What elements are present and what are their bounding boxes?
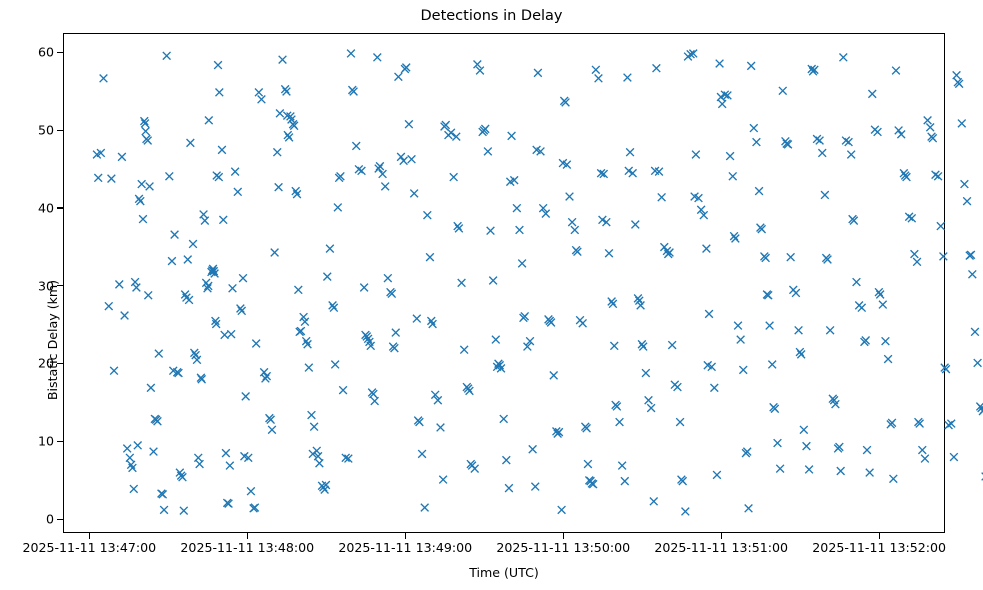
x-axis-tick-label: 2025-11-11 13:47:00 [22,541,156,555]
scatter-marker [268,426,276,434]
scatter-marker [201,217,209,225]
scatter-marker [222,449,230,457]
scatter-marker [625,167,633,175]
x-tick-datetime: 2025-11-11 13:49:00 [338,540,472,555]
scatter-marker [352,142,360,150]
scatter-marker [242,393,250,401]
scatter-marker [566,193,574,201]
scatter-marker [219,216,227,224]
scatter-marker [123,445,131,453]
scatter-marker [373,53,381,61]
scatter-marker [863,446,871,454]
scatter-marker [747,62,755,70]
scatter-marker [358,167,366,175]
scatter-marker [800,426,808,434]
scatter-marker [310,423,318,431]
scatter-marker [502,456,510,464]
scatter-marker [168,257,176,265]
scatter-marker [703,245,711,253]
x-axis-tick-mark [563,533,564,539]
scatter-marker [631,221,639,229]
scatter-marker [185,296,193,304]
scatter-marker [160,506,168,514]
scatter-marker [316,459,324,467]
scatter-marker [450,173,458,181]
scatter-marker [837,467,845,475]
scatter-marker [144,291,152,299]
x-axis-tick-mark [247,533,248,539]
scatter-marker [674,383,682,391]
scatter-marker [408,155,416,163]
scatter-marker [908,214,916,222]
scatter-marker [753,138,761,146]
scatter-marker [305,364,313,372]
scatter-marker [937,222,945,230]
scatter-marker [932,171,940,179]
x-tick-datetime: 2025-11-11 13:50:00 [496,540,630,555]
scatter-marker [418,450,426,458]
scatter-marker [165,172,173,180]
scatter-marker [258,95,266,103]
x-tick-datetime: 2025-11-11 13:47:00 [22,540,156,555]
scatter-marker [839,53,847,61]
scatter-marker [355,165,363,173]
scatter-marker [413,315,421,323]
scatter-marker [963,197,971,205]
x-axis-tick-label: 2025-11-11 13:49:00 [338,541,472,555]
scatter-marker [858,304,866,312]
scatter-marker [913,258,921,266]
scatter-marker [926,123,934,131]
scatter-marker [131,278,139,286]
page-title: Detections in Delay [0,8,983,24]
scatter-marker [866,469,874,477]
scatter-marker [508,132,516,140]
scatter-marker [437,424,445,432]
x-tick-datetime: 2025-11-11 13:51:00 [654,540,788,555]
scatter-marker [826,326,834,334]
scatter-marker [868,90,876,98]
scatter-marker [331,361,339,369]
scatter-marker [126,454,134,462]
scatter-marker [653,64,661,72]
scatter-marker [940,253,948,261]
y-axis-tick-label: 0 [46,512,54,527]
scatter-series [93,50,983,519]
x-axis-label: Time (UTC) [63,565,945,580]
scatter-marker [842,137,850,145]
scatter-marker [133,284,141,292]
x-axis-tick-label: 2025-11-11 13:52:00 [812,541,946,555]
scatter-marker [616,418,624,426]
scatter-marker [271,249,279,257]
scatter-marker [895,127,903,135]
scatter-marker [776,465,784,473]
scatter-marker [918,446,926,454]
scatter-marker [146,183,154,191]
y-axis-tick-label: 30 [38,278,54,293]
scatter-marker [971,328,979,336]
scatter-marker [803,442,811,450]
scatter-marker [705,310,713,318]
plot-area [63,33,945,533]
scatter-marker [294,286,302,294]
scatter-marker [110,367,118,375]
scatter-marker [379,170,387,178]
scatter-points [64,34,946,534]
x-axis-tick-mark [405,533,406,539]
y-axis-tick-label: 20 [38,356,54,371]
scatter-marker [924,116,932,124]
scatter-marker [381,183,389,191]
scatter-marker [624,74,632,82]
scatter-marker [889,475,897,483]
scatter-marker [953,71,961,79]
scatter-marker [108,175,116,183]
scatter-marker [792,289,800,297]
scatter-marker [513,204,521,212]
scatter-marker [100,74,108,82]
scatter-marker [439,476,447,484]
scatter-marker [218,146,226,154]
scatter-marker [421,504,429,512]
scatter-marker [205,116,213,124]
scatter-marker [734,322,742,330]
scatter-marker [347,50,355,58]
scatter-marker [874,128,882,136]
scatter-marker [755,187,763,195]
scatter-marker [339,386,347,394]
scatter-marker [405,120,413,128]
scatter-marker [134,442,142,450]
scatter-marker [276,109,284,117]
scatter-marker [718,100,726,108]
scatter-marker [968,270,976,278]
scatter-marker [392,329,400,337]
scatter-marker [958,120,966,128]
y-axis-tick-label: 40 [38,200,54,215]
scatter-marker [821,191,829,199]
scatter-marker [818,149,826,157]
scatter-marker [642,369,650,377]
scatter-marker [500,415,508,423]
scatter-marker [105,302,113,310]
scatter-marker [460,346,468,354]
scatter-marker [921,455,929,463]
scatter-marker [139,215,147,223]
scatter-marker [658,193,666,201]
scatter-marker [787,253,795,261]
scatter-marker [716,60,724,68]
scatter-marker [184,256,192,264]
scatter-marker [692,151,700,159]
scatter-marker [626,148,634,156]
scatter-marker [934,172,942,180]
x-tick-datetime: 2025-11-11 13:48:00 [180,540,314,555]
scatter-marker [571,226,579,234]
scatter-marker [945,421,953,429]
scatter-marker [610,342,618,350]
scatter-marker [142,127,150,135]
scatter-marker [138,180,146,188]
scatter-marker [911,250,919,258]
scatter-marker [397,153,405,161]
scatter-marker [621,477,629,485]
scatter-marker [226,462,234,470]
scatter-marker [947,420,955,428]
scatter-marker [187,139,195,147]
y-axis-tick-label: 10 [38,434,54,449]
scatter-marker [647,404,655,412]
scatter-marker [371,397,379,405]
y-axis-tick-label: 60 [38,45,54,60]
scatter-marker [247,487,255,495]
scatter-marker [676,418,684,426]
scatter-marker [884,355,892,363]
scatter-marker [726,152,734,160]
scatter-marker [189,240,197,248]
scatter-marker [745,504,753,512]
scatter-marker [529,445,537,453]
scatter-marker [605,249,613,257]
scatter-marker [163,52,171,60]
x-axis-tick-label: 2025-11-11 13:51:00 [654,541,788,555]
scatter-marker [229,284,237,292]
scatter-marker [961,180,969,188]
scatter-marker [584,460,592,468]
scatter-marker [550,372,558,380]
scatter-marker [729,172,737,180]
scatter-marker [592,66,600,74]
scatter-marker [974,359,982,367]
scatter-marker [534,69,542,77]
scatter-marker [487,227,495,235]
scatter-marker [768,361,776,369]
y-axis-tick-labels: 0102030405060 [0,0,54,590]
scatter-marker [531,483,539,491]
scatter-marker [739,366,747,374]
scatter-marker [196,460,204,468]
x-axis-tick-mark [89,533,90,539]
scatter-marker [452,133,460,141]
scatter-marker [645,396,653,404]
scatter-marker [853,278,861,286]
scatter-marker [779,87,787,95]
scatter-marker [492,336,500,344]
scatter-marker [882,337,890,345]
scatter-marker [599,216,607,224]
scatter-marker [750,124,758,132]
scatter-marker [360,284,368,292]
scatter-marker [252,340,260,348]
scatter-marker [595,74,603,82]
scatter-marker [273,148,281,156]
scatter-marker [879,301,887,309]
scatter-marker [130,485,138,493]
x-axis-tick-label: 2025-11-11 13:50:00 [496,541,630,555]
x-tick-datetime: 2025-11-11 13:52:00 [812,540,946,555]
scatter-marker [805,466,813,474]
scatter-marker [516,226,524,234]
y-axis-tick-label: 50 [38,123,54,138]
x-axis-tick-mark [879,533,880,539]
scatter-marker [892,67,900,75]
scatter-marker [255,88,263,96]
x-axis-tick-mark [721,533,722,539]
scatter-marker [234,188,242,196]
scatter-marker [239,274,247,282]
scatter-marker [650,497,658,505]
scatter-marker [847,151,855,159]
scatter-marker [147,384,155,392]
scatter-marker [275,183,283,191]
scatter-marker [384,274,392,282]
scatter-marker [423,211,431,219]
scatter-marker [326,245,334,253]
scatter-marker [121,312,129,320]
x-axis-tick-label: 2025-11-11 13:48:00 [180,541,314,555]
scatter-marker [579,319,587,327]
scatter-marker [897,130,905,138]
scatter-marker [171,231,179,239]
scatter-marker [227,330,235,338]
scatter-marker [118,153,126,161]
scatter-marker [618,462,626,470]
scatter-marker [668,341,676,349]
scatter-marker [115,281,123,289]
scatter-marker [795,326,803,334]
scatter-marker [774,439,782,447]
scatter-marker [400,157,408,165]
scatter-marker [766,322,774,330]
scatter-marker [215,88,223,96]
scatter-marker [410,190,418,198]
scatter-marker [713,471,721,479]
scatter-marker [155,350,163,358]
scatter-marker [845,138,853,146]
scatter-marker [558,506,566,514]
scatter-marker [323,273,331,281]
figure: Detections in Delay Bistatic Delay (km) … [0,0,983,590]
scatter-marker [94,174,102,182]
scatter-marker [215,173,223,181]
scatter-marker [180,507,188,515]
scatter-marker [308,411,316,419]
scatter-marker [214,61,222,69]
scatter-marker [813,135,821,143]
scatter-marker [231,168,239,176]
scatter-marker [150,448,158,456]
scatter-marker [737,336,745,344]
scatter-marker [681,508,689,516]
scatter-marker [426,253,434,261]
scatter-marker [505,484,513,492]
scatter-marker [484,148,492,156]
scatter-marker [518,260,526,268]
scatter-marker [950,453,958,461]
scatter-marker [568,218,576,226]
scatter-marker [905,213,913,221]
scatter-marker [816,137,824,145]
scatter-marker [717,93,725,101]
scatter-marker [334,204,342,212]
scatter-marker [458,279,466,287]
scatter-marker [710,384,718,392]
scatter-marker [489,277,497,285]
scatter-marker [395,73,403,81]
scatter-marker [279,56,287,64]
